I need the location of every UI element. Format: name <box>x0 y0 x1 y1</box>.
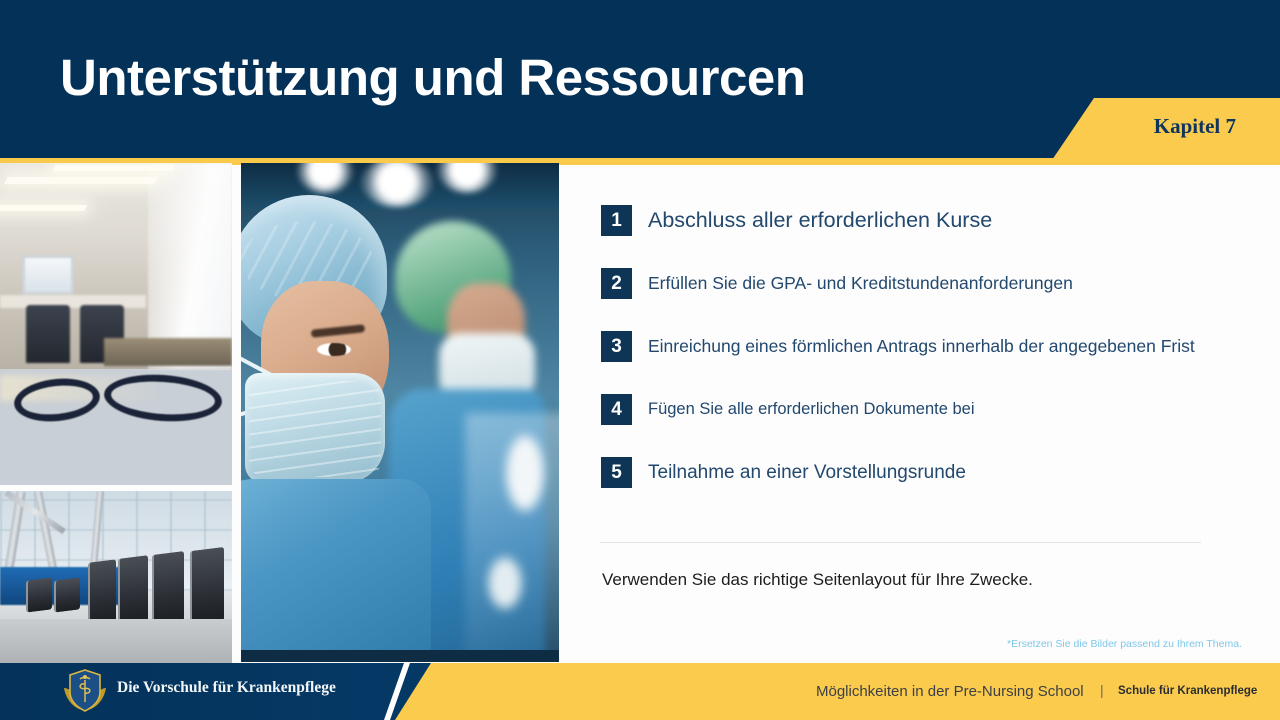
list-number-badge: 5 <box>601 457 632 488</box>
list-number-badge: 4 <box>601 394 632 425</box>
list-item-label: Abschluss aller erforderlichen Kurse <box>648 208 992 233</box>
list-item-label: Erfüllen Sie die GPA- und Kreditstundena… <box>648 273 1073 294</box>
content-divider <box>600 542 1201 543</box>
list-item: 3 Einreichung eines förmlichen Antrags i… <box>601 331 1241 362</box>
page-title: Unterstützung und Ressourcen <box>60 48 805 107</box>
school-crest-logo <box>60 666 110 716</box>
body-caption: Verwenden Sie das richtige Seitenlayout … <box>602 570 1033 590</box>
list-number-badge: 3 <box>601 331 632 362</box>
waiting-area-seats-photo <box>0 491 232 664</box>
list-item: 5 Teilnahme an einer Vorstellungsrunde <box>601 457 1241 488</box>
slide: Unterstützung und Ressourcen Kapitel 7 <box>0 0 1280 720</box>
list-item: 2 Erfüllen Sie die GPA- und Kreditstunde… <box>601 268 1241 299</box>
operating-room-surgeons-photo <box>241 163 559 662</box>
list-item-label: Einreichung eines förmlichen Antrags inn… <box>648 336 1195 357</box>
footer-right-label: Schule für Krankenpflege <box>1118 685 1257 697</box>
footer-center-label: Möglichkeiten in der Pre-Nursing School <box>816 683 1084 700</box>
clinic-stethoscope-photo <box>0 163 232 485</box>
chapter-badge-label: Kapitel 7 <box>1154 114 1236 139</box>
image-replacement-footnote: *Ersetzen Sie die Bilder passend zu Ihre… <box>1007 638 1242 650</box>
footer-separator: | <box>1100 682 1104 698</box>
list-item-label: Teilnahme an einer Vorstellungsrunde <box>648 462 966 484</box>
list-item-label: Fügen Sie alle erforderlichen Dokumente … <box>648 400 975 419</box>
footer-brand-label: Die Vorschule für Krankenpflege <box>117 679 336 697</box>
list-number-badge: 2 <box>601 268 632 299</box>
numbered-list: 1 Abschluss aller erforderlichen Kurse 2… <box>601 205 1241 520</box>
list-item: 4 Fügen Sie alle erforderlichen Dokument… <box>601 394 1241 425</box>
list-item: 1 Abschluss aller erforderlichen Kurse <box>601 205 1241 236</box>
list-number-badge: 1 <box>601 205 632 236</box>
